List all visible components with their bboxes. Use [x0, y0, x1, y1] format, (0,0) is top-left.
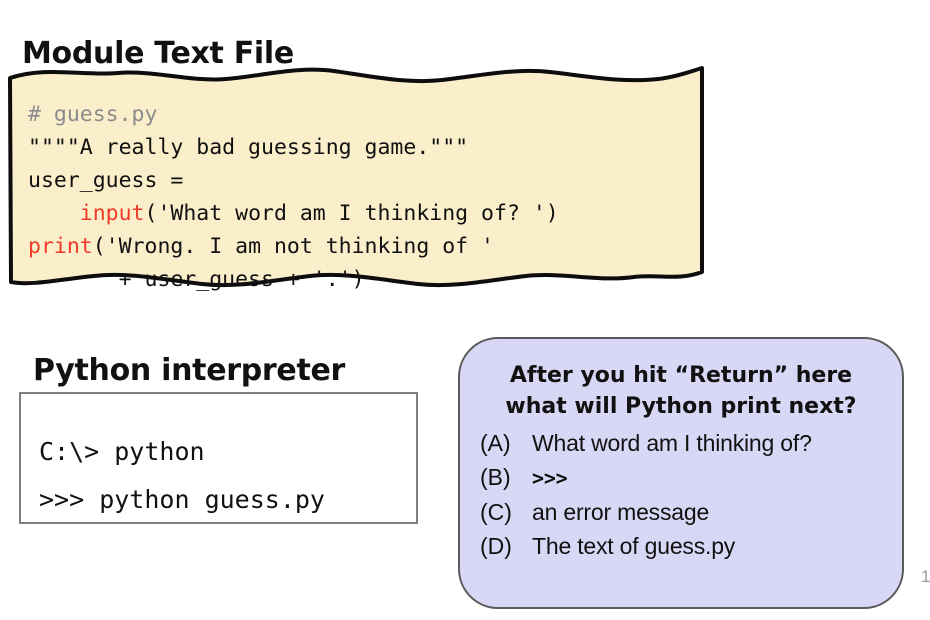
code-token-plain: user_guess = [28, 168, 183, 193]
quiz-option-c[interactable]: (C)an error message [480, 495, 902, 529]
quiz-option-text: an error message [532, 495, 709, 529]
quiz-option-key: (C) [480, 495, 532, 529]
quiz-option-b[interactable]: (B)>>> [480, 460, 902, 495]
quiz-option-key: (B) [480, 460, 532, 494]
quiz-option-list: (A)What word am I thinking of?(B)>>>(C)a… [480, 426, 902, 563]
module-code-listing: # guess.py """"A really bad guessing gam… [28, 98, 692, 296]
quiz-option-text: >>> [532, 461, 568, 495]
quiz-question-line-1: After you hit “Return” here [510, 363, 852, 388]
quiz-option-key: (D) [480, 529, 532, 563]
code-token-plain: + user_guess + '.') [28, 267, 365, 292]
python-interpreter-heading: Python interpreter [33, 353, 345, 388]
quiz-option-d[interactable]: (D)The text of guess.py [480, 529, 902, 563]
quiz-option-text: What word am I thinking of? [532, 426, 812, 460]
code-token-plain: ('What word am I thinking of? ') [145, 201, 559, 226]
code-token-builtin: print [28, 234, 93, 259]
quiz-question-line-2: what will Python print next? [505, 394, 856, 419]
quiz-option-key: (A) [480, 426, 532, 460]
code-token-comment: # guess.py [28, 102, 157, 127]
module-code-card: # guess.py """"A really bad guessing gam… [6, 62, 706, 290]
interpreter-console-box[interactable]: C:\> python >>> python guess.py [19, 392, 418, 524]
quiz-callout: After you hit “Return” here what will Py… [458, 337, 904, 609]
code-token-plain: ('Wrong. I am not thinking of ' [93, 234, 494, 259]
code-token-plain: """"A really bad guessing game.""" [28, 135, 468, 160]
quiz-question: After you hit “Return” here what will Py… [480, 360, 882, 422]
quiz-option-text: The text of guess.py [532, 529, 735, 563]
code-token-plain [28, 201, 80, 226]
code-token-builtin: input [80, 201, 145, 226]
slide-number-edge-mark: 1 [921, 567, 930, 587]
interpreter-console-lines: C:\> python >>> python guess.py [39, 428, 325, 524]
quiz-option-a[interactable]: (A)What word am I thinking of? [480, 426, 902, 460]
